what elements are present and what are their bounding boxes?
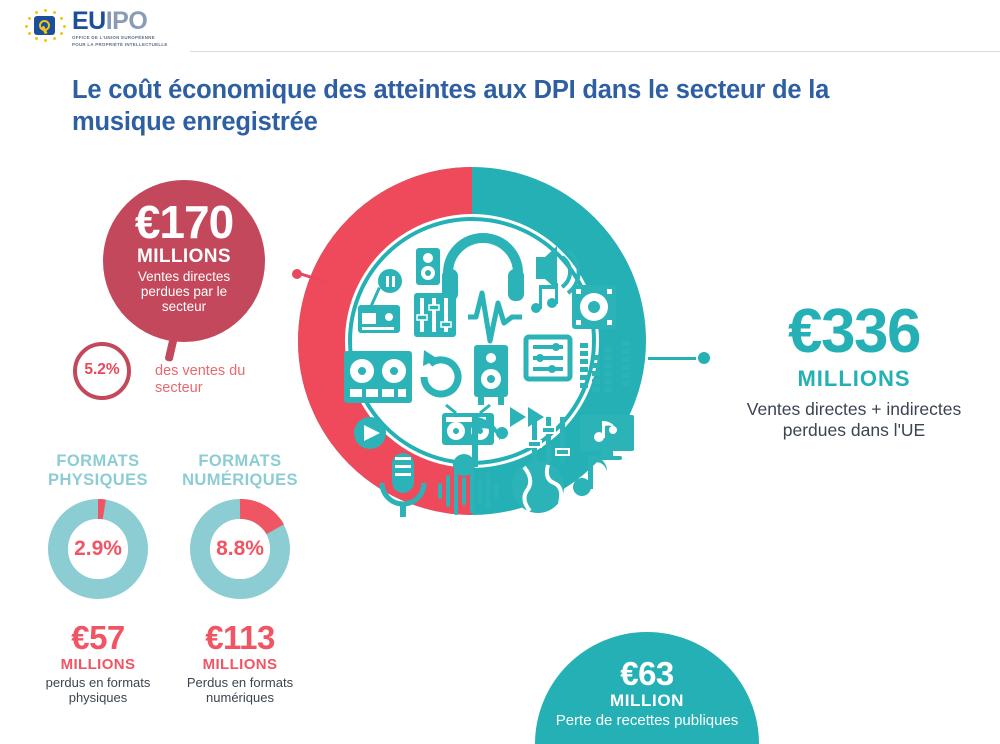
header-divider (190, 51, 1000, 52)
physical-donut-loss-segment (98, 509, 104, 510)
speaker-box-icon (416, 248, 440, 285)
public-revenue-amount: €63 (535, 656, 759, 691)
equalizer-sliders-icon (414, 293, 456, 337)
formats-physical-heading: FORMATS PHYSIQUES (28, 452, 168, 490)
tape-deck-icon (344, 351, 412, 403)
connector-line-right (648, 352, 710, 364)
euipo-r-mark (34, 16, 55, 35)
total-losses-block: €336 MILLIONS Ventes directes + indirect… (718, 300, 990, 441)
formats-physical-column: FORMATS PHYSIQUES 2.9% €57 MILLIONS perd… (28, 452, 168, 705)
equalizer-vertical-icon (528, 417, 569, 463)
connector-line-left (292, 268, 328, 282)
formats-physical-percent: 2.9% (45, 537, 151, 561)
formats-digital-description: Perdus en formats numériques (170, 675, 310, 705)
formats-digital-unit: MILLIONS (170, 656, 310, 673)
formats-physical-description: perdus en formats physiques (28, 675, 168, 705)
play-button-icon (354, 417, 386, 449)
pause-icon (378, 269, 402, 293)
connector-right-dot (698, 352, 710, 364)
sector-share-value: 5.2% (73, 361, 131, 379)
page-header: EUIPO OFFICE DE L'UNION EUROPÉENNE POUR … (0, 0, 1000, 52)
direct-losses-amount: €170 (103, 198, 265, 246)
direct-losses-bubble: €170 MILLIONS Ventes directes perdues pa… (103, 180, 265, 342)
formats-digital-column: FORMATS NUMÉRIQUES 8.8% €113 MILLIONS Pe… (170, 452, 310, 705)
sector-share-ring: 5.2% (73, 342, 139, 408)
direct-losses-description: Ventes directes perdues par le secteur (103, 268, 265, 314)
wordmark-ipo: IPO (106, 7, 148, 35)
formats-physical-donut: 2.9% (45, 496, 151, 602)
formats-physical-unit: MILLIONS (28, 656, 168, 673)
total-losses-unit: MILLIONS (718, 366, 990, 392)
logo-subtitle-line2: POUR LA PROPRIÉTÉ INTELLECTUELLE (72, 42, 168, 48)
vinyl-player-icon (572, 285, 616, 329)
speaker-tower-icon (474, 345, 508, 405)
connector-right-line (648, 357, 696, 360)
connector-left-line (299, 272, 328, 283)
total-losses-description: Ventes directes + indirectes perdues dan… (718, 399, 990, 441)
public-revenue-block: €63 MILLION Perte de recettes publiques (535, 632, 759, 744)
euipo-logo (22, 7, 68, 43)
globe-icon (512, 461, 564, 513)
direct-losses-unit: MILLIONS (103, 246, 265, 268)
formats-digital-donut: 8.8% (187, 496, 293, 602)
bubble-tail (164, 327, 179, 362)
formats-physical-amount: €57 (28, 620, 168, 656)
main-donut-chart (296, 165, 648, 517)
total-losses-amount: €336 (718, 300, 990, 364)
formats-digital-heading: FORMATS NUMÉRIQUES (170, 452, 310, 490)
logo-subtitle-line1: OFFICE DE L'UNION EUROPÉENNE (72, 35, 168, 41)
public-revenue-unit: MILLION (535, 691, 759, 711)
formats-digital-percent: 8.8% (187, 537, 293, 561)
sector-share-label: des ventes du secteur (155, 363, 275, 396)
eu-flag-icon (22, 7, 68, 43)
formats-digital-amount: €113 (170, 620, 310, 656)
wordmark-eu: EU (72, 7, 106, 35)
public-revenue-description: Perte de recettes publiques (535, 712, 759, 730)
page-title: Le coût économique des atteintes aux DPI… (72, 74, 832, 138)
euipo-wordmark: EUIPO OFFICE DE L'UNION EUROPÉENNE POUR … (72, 8, 168, 47)
